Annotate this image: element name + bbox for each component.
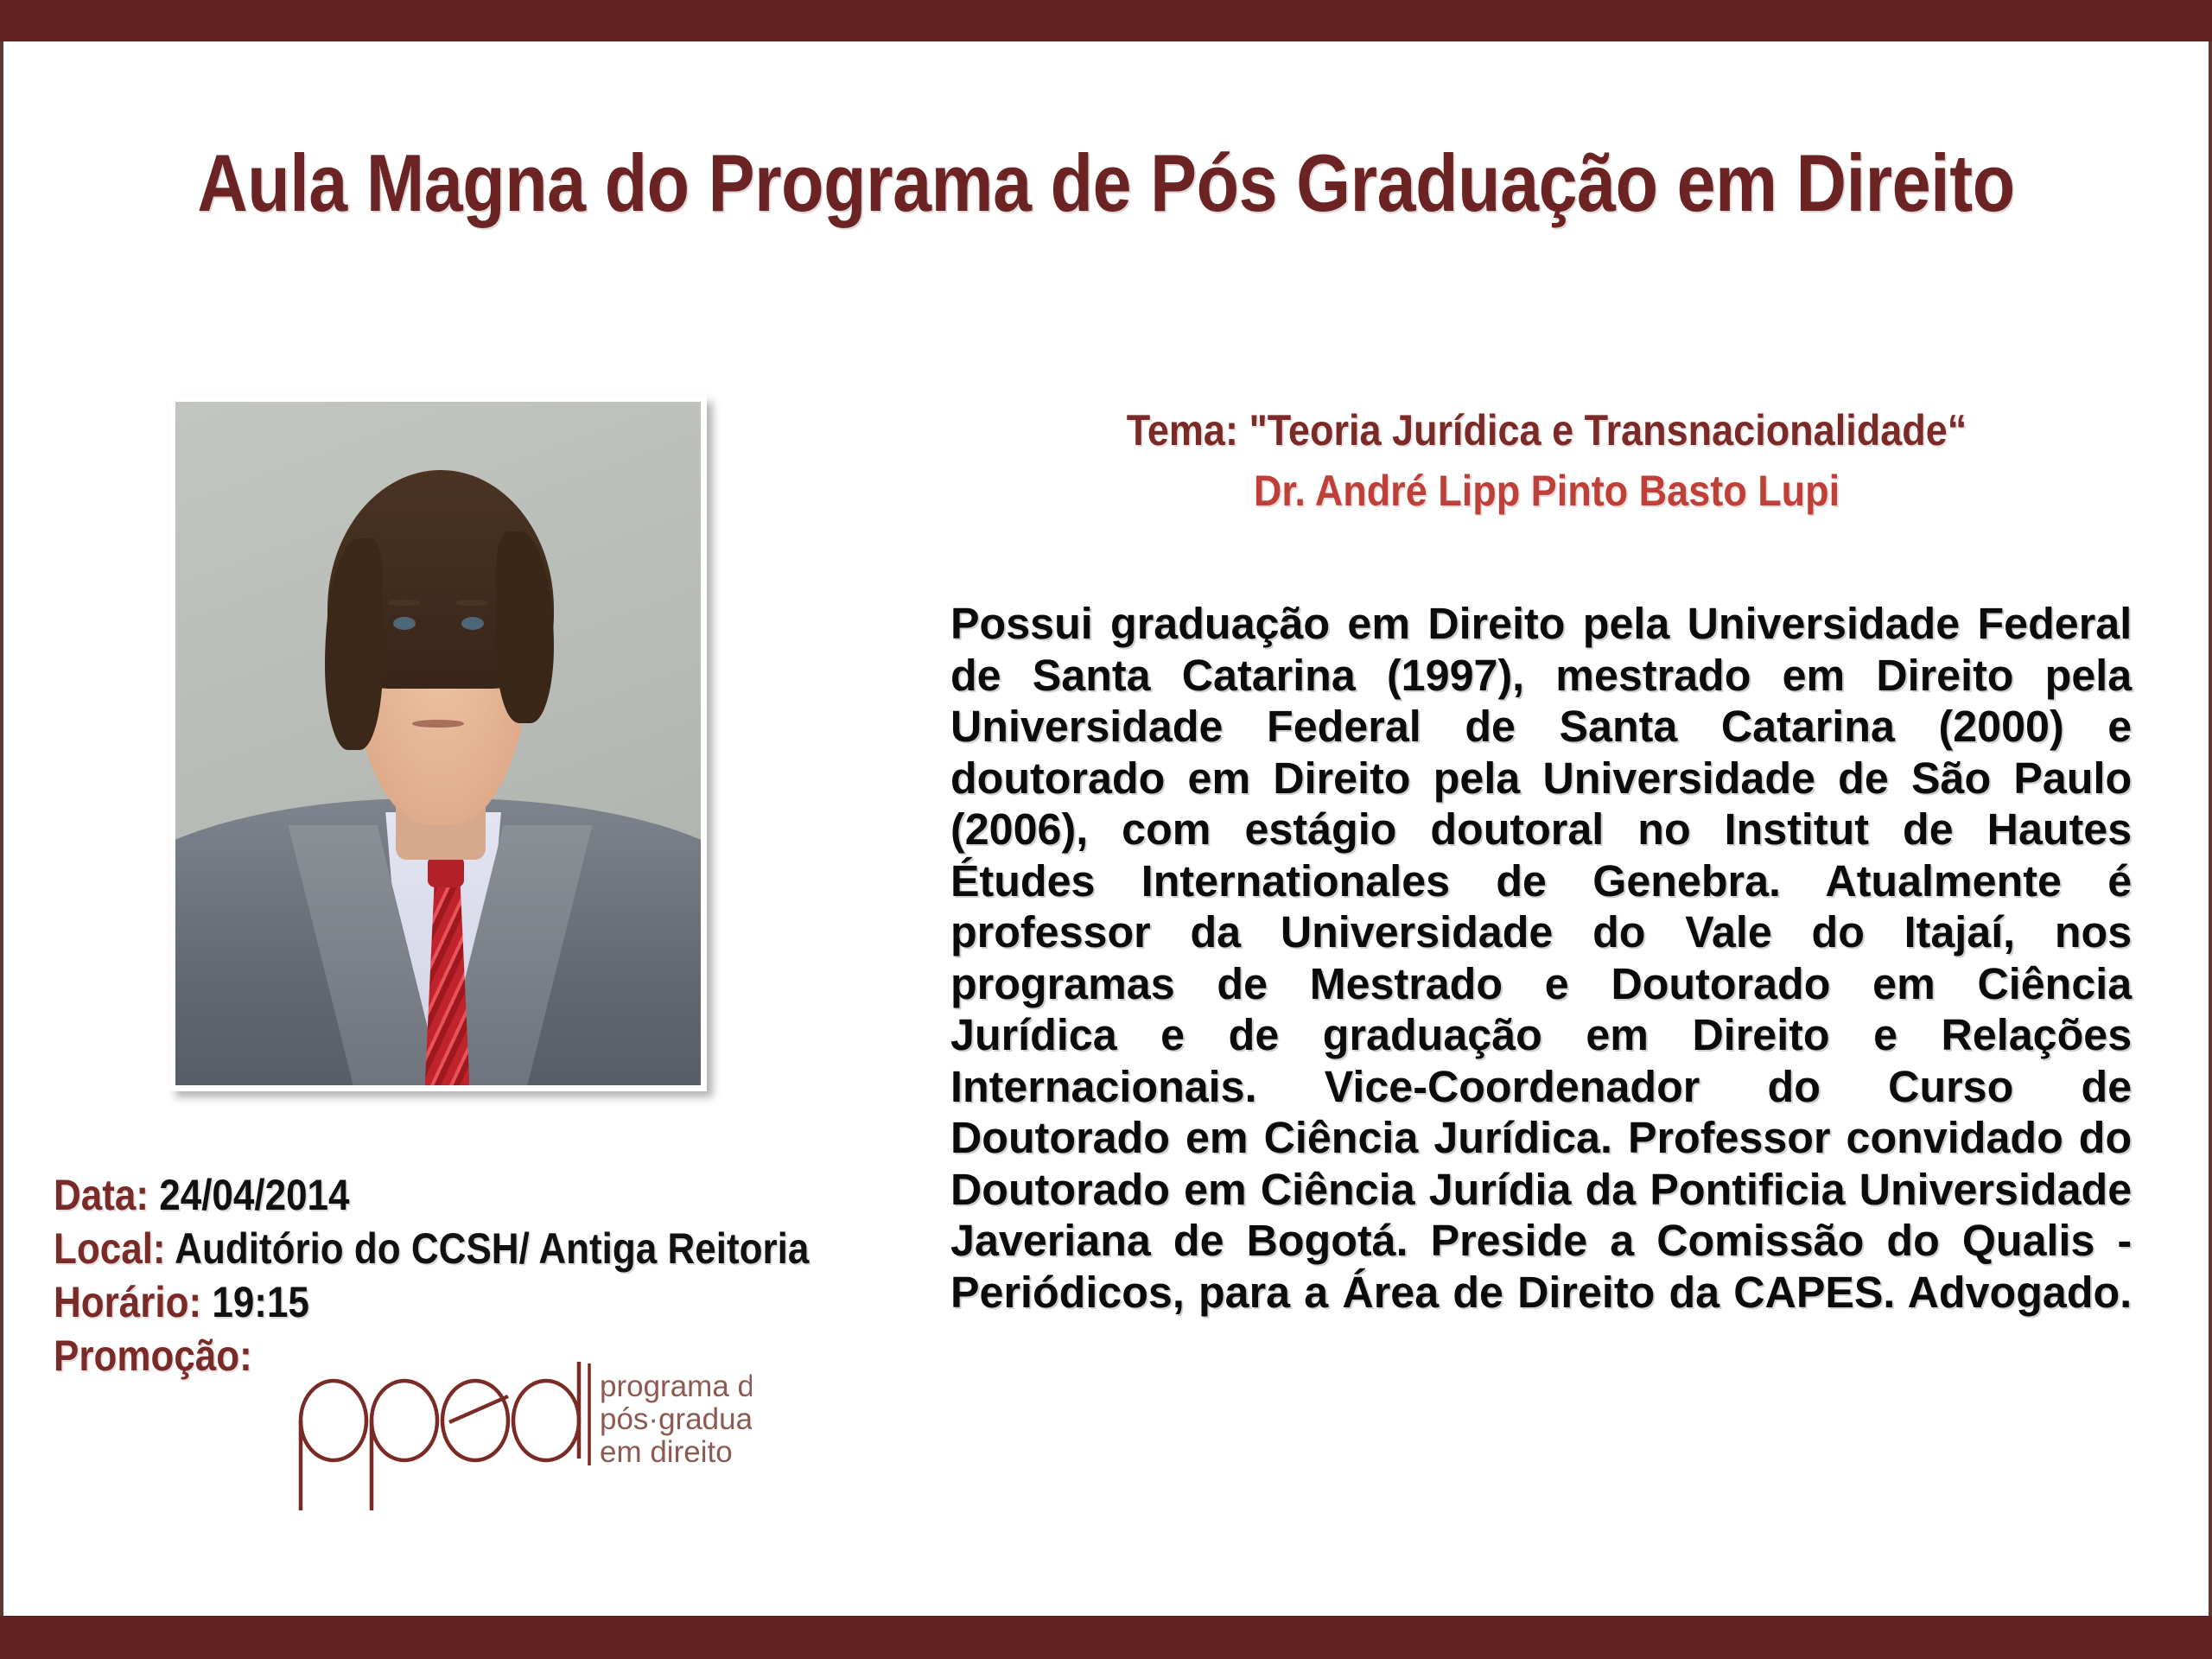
photo-tie-knot xyxy=(428,856,465,887)
speaker-biography: Possui graduação em Direito pela Univers… xyxy=(950,598,2132,1370)
photo-eyebrow-right xyxy=(456,600,487,606)
logo-letter-d-bowl xyxy=(513,1381,579,1460)
right-frame-edge xyxy=(2209,41,2212,1616)
speaker-photo xyxy=(175,402,701,1085)
detail-value-horario: 19:15 xyxy=(212,1278,309,1326)
detail-row-horario: Horário: 19:15 xyxy=(54,1275,814,1329)
page-title: Aula Magna do Programa de Pós Graduação … xyxy=(155,137,2057,230)
detail-row-data: Data: 24/04/2014 xyxy=(54,1168,814,1222)
detail-label-local: Local: xyxy=(54,1224,166,1273)
photo-eye-left xyxy=(393,617,416,630)
speaker-name: Dr. André Lipp Pinto Basto Lupi xyxy=(1002,465,2091,517)
logo-letter-g-bar xyxy=(449,1396,508,1422)
detail-label-data: Data: xyxy=(54,1171,149,1219)
detail-value-data: 24/04/2014 xyxy=(159,1171,349,1219)
logo-letter-p2-bowl xyxy=(372,1381,437,1460)
detail-row-local: Local: Auditório do CCSH/ Antiga Reitori… xyxy=(54,1222,814,1275)
lecture-theme: Tema: "Teoria Jurídica e Transnacionalid… xyxy=(1002,404,2091,456)
ppgd-logo-svg: programa de pós·graduação em direito xyxy=(285,1362,752,1535)
speaker-photo-frame xyxy=(169,396,707,1091)
logo-line-1: programa de xyxy=(600,1370,752,1403)
logo-line-3: em direito xyxy=(600,1435,733,1469)
photo-eye-right xyxy=(461,617,484,630)
bottom-frame-bar xyxy=(0,1616,2212,1659)
photo-eyebrow-left xyxy=(388,600,419,606)
ppgd-logo: programa de pós·graduação em direito xyxy=(285,1362,752,1535)
top-frame-bar xyxy=(0,0,2212,41)
detail-value-local: Auditório do CCSH/ Antiga Reitoria xyxy=(175,1224,809,1273)
logo-letter-p1-bowl xyxy=(301,1381,366,1460)
event-details: Data: 24/04/2014 Local: Auditório do CCS… xyxy=(54,1168,918,1382)
left-frame-edge xyxy=(0,41,3,1616)
logo-line-2: pós·graduação xyxy=(600,1402,752,1436)
detail-label-horario: Horário: xyxy=(54,1278,201,1326)
detail-label-promocao: Promoção: xyxy=(54,1332,252,1380)
event-poster: Aula Magna do Programa de Pós Graduação … xyxy=(0,0,2212,1659)
